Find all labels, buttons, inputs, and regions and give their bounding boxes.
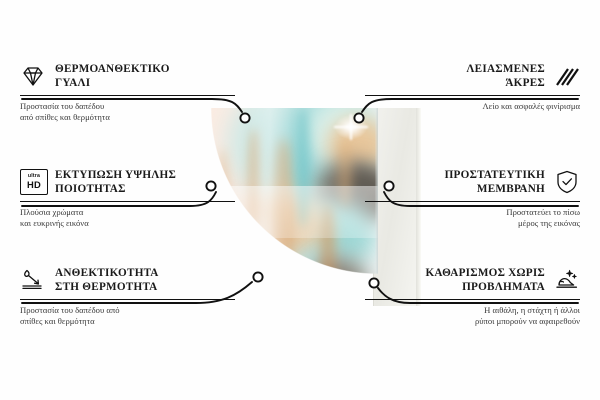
ultra-hd-icon: ultra HD (20, 169, 46, 195)
feature-description: Προστασία του δαπέδου από σπίθες και θερ… (20, 305, 235, 328)
feature-title: ΛΕΙΑΣΜΕΝΕΣ ΆΚΡΕΣ (466, 62, 545, 90)
feature-easy-cleaning: ΚΑΘΑΡΙΣΜΟΣ ΧΩΡΙΣ ΠΡΟΒΛΗΜΑΤΑ Η αιθάλη, η … (365, 266, 580, 328)
feature-heat-durability: ΑΝΘΕΚΤΙΚΟΤΗΤΑ ΣΤΗ ΘΕΡΜΟΤΗΤΑ Προστασία το… (20, 266, 235, 328)
connector-dot-glass (240, 113, 249, 122)
feature-heat-resistant-glass: ΘΕΡΜΟΑΝΘΕΚΤΙΚΟ ΓΥΑΛΙ Προστασία του δαπέδ… (20, 62, 235, 124)
feature-header: ΠΡΟΣΤΑΤΕΥΤΙΚΗ ΜΕΜΒΡΑΝΗ (365, 168, 580, 196)
feature-title: ΕΚΤΥΠΩΣΗ ΥΨΗΛΗΣ ΠΟΙΟΤΗΤΑΣ (55, 168, 176, 196)
ultra-hd-bottom-label: HD (27, 180, 41, 189)
feature-divider (20, 299, 235, 300)
diamond-icon (20, 63, 46, 89)
sponge-sparkle-icon (554, 267, 580, 293)
feature-description: Λείο και ασφαλές φινίρισμα (365, 101, 580, 112)
feature-description: Προστατεύει το πίσω μέρος της εικόνας (365, 207, 580, 230)
shield-check-icon (554, 169, 580, 195)
feature-header: ΑΝΘΕΚΤΙΚΟΤΗΤΑ ΣΤΗ ΘΕΡΜΟΤΗΤΑ (20, 266, 235, 294)
feature-high-quality-print: ultra HD ΕΚΤΥΠΩΣΗ ΥΨΗΛΗΣ ΠΟΙΟΤΗΤΑΣ Πλούσ… (20, 168, 235, 230)
feature-description: Προστασία του δαπέδου από σπίθες και θερ… (20, 101, 235, 124)
feature-divider (365, 201, 580, 202)
feature-divider (365, 299, 580, 300)
connector-dot-heat (253, 272, 262, 281)
feature-header: ΛΕΙΑΣΜΕΝΕΣ ΆΚΡΕΣ (365, 62, 580, 90)
feature-title: ΘΕΡΜΟΑΝΘΕΚΤΙΚΟ ΓΥΑΛΙ (55, 62, 170, 90)
feature-title: ΠΡΟΣΤΑΤΕΥΤΙΚΗ ΜΕΜΒΡΑΝΗ (445, 168, 545, 196)
feature-divider (20, 95, 235, 96)
flame-deflect-icon (20, 267, 46, 293)
feature-header: ΘΕΡΜΟΑΝΘΕΚΤΙΚΟ ΓΥΑΛΙ (20, 62, 235, 90)
diagonal-stripes-icon (554, 63, 580, 89)
feature-divider (365, 95, 580, 96)
infographic-canvas: ΘΕΡΜΟΑΝΘΕΚΤΙΚΟ ΓΥΑΛΙ Προστασία του δαπέδ… (0, 0, 600, 400)
feature-title: ΑΝΘΕΚΤΙΚΟΤΗΤΑ ΣΤΗ ΘΕΡΜΟΤΗΤΑ (55, 266, 159, 294)
feature-description: Η αιθάλη, η στάχτη ή άλλοι ρύποι μπορούν… (365, 305, 580, 328)
feature-title: ΚΑΘΑΡΙΣΜΟΣ ΧΩΡΙΣ ΠΡΟΒΛΗΜΑΤΑ (425, 266, 545, 294)
feature-header: ultra HD ΕΚΤΥΠΩΣΗ ΥΨΗΛΗΣ ΠΟΙΟΤΗΤΑΣ (20, 168, 235, 196)
feature-polished-edges: ΛΕΙΑΣΜΕΝΕΣ ΆΚΡΕΣ Λείο και ασφαλές φινίρι… (365, 62, 580, 112)
feature-header: ΚΑΘΑΡΙΣΜΟΣ ΧΩΡΙΣ ΠΡΟΒΛΗΜΑΤΑ (365, 266, 580, 294)
connector-dot-edges (354, 113, 363, 122)
feature-protective-membrane: ΠΡΟΣΤΑΤΕΥΤΙΚΗ ΜΕΜΒΡΑΝΗ Προστατεύει το πί… (365, 168, 580, 230)
feature-description: Πλούσια χρώματα και ευκρινής εικόνα (20, 207, 235, 230)
feature-divider (20, 201, 235, 202)
